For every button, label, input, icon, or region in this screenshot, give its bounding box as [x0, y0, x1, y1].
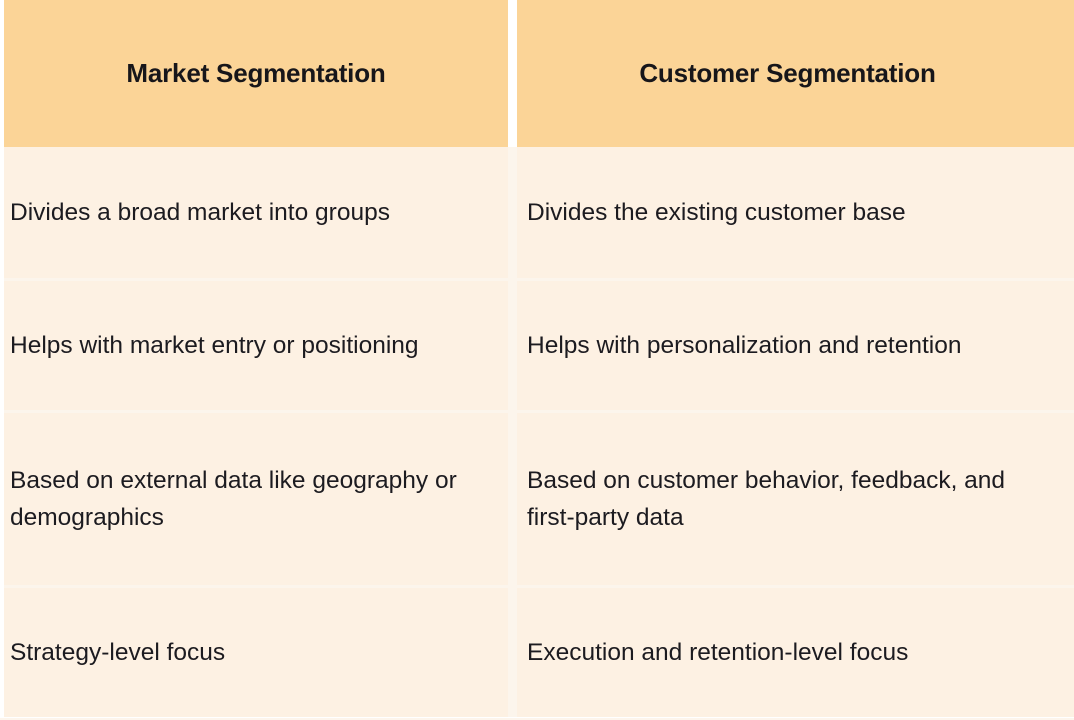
- cell-customer-row-4: Execution and retention-level focus: [517, 585, 1074, 717]
- cell-market-row-3: Based on external data like geography or…: [0, 410, 517, 585]
- table-header-row: Market Segmentation Customer Segmentatio…: [0, 0, 1074, 147]
- table-row: Strategy-level focus Execution and reten…: [0, 585, 1074, 717]
- table-header: Market Segmentation Customer Segmentatio…: [0, 0, 1074, 147]
- table-row: Based on external data like geography or…: [0, 410, 1074, 585]
- table-row: Divides a broad market into groups Divid…: [0, 147, 1074, 278]
- cell-customer-row-2: Helps with personalization and retention: [517, 278, 1074, 410]
- column-header-market-segmentation: Market Segmentation: [0, 0, 517, 147]
- cell-market-row-4: Strategy-level focus: [0, 585, 517, 717]
- cell-market-row-2: Helps with market entry or positioning: [0, 278, 517, 410]
- segmentation-comparison-table: Market Segmentation Customer Segmentatio…: [0, 0, 1074, 717]
- cell-customer-row-3: Based on customer behavior, feedback, an…: [517, 410, 1074, 585]
- cell-market-row-1: Divides a broad market into groups: [0, 147, 517, 278]
- table-row: Helps with market entry or positioning H…: [0, 278, 1074, 410]
- cell-customer-row-1: Divides the existing customer base: [517, 147, 1074, 278]
- left-edge-strip: [0, 0, 4, 720]
- comparison-table-container: Market Segmentation Customer Segmentatio…: [0, 0, 1074, 720]
- column-header-customer-segmentation: Customer Segmentation: [517, 0, 1074, 147]
- table-body: Divides a broad market into groups Divid…: [0, 147, 1074, 717]
